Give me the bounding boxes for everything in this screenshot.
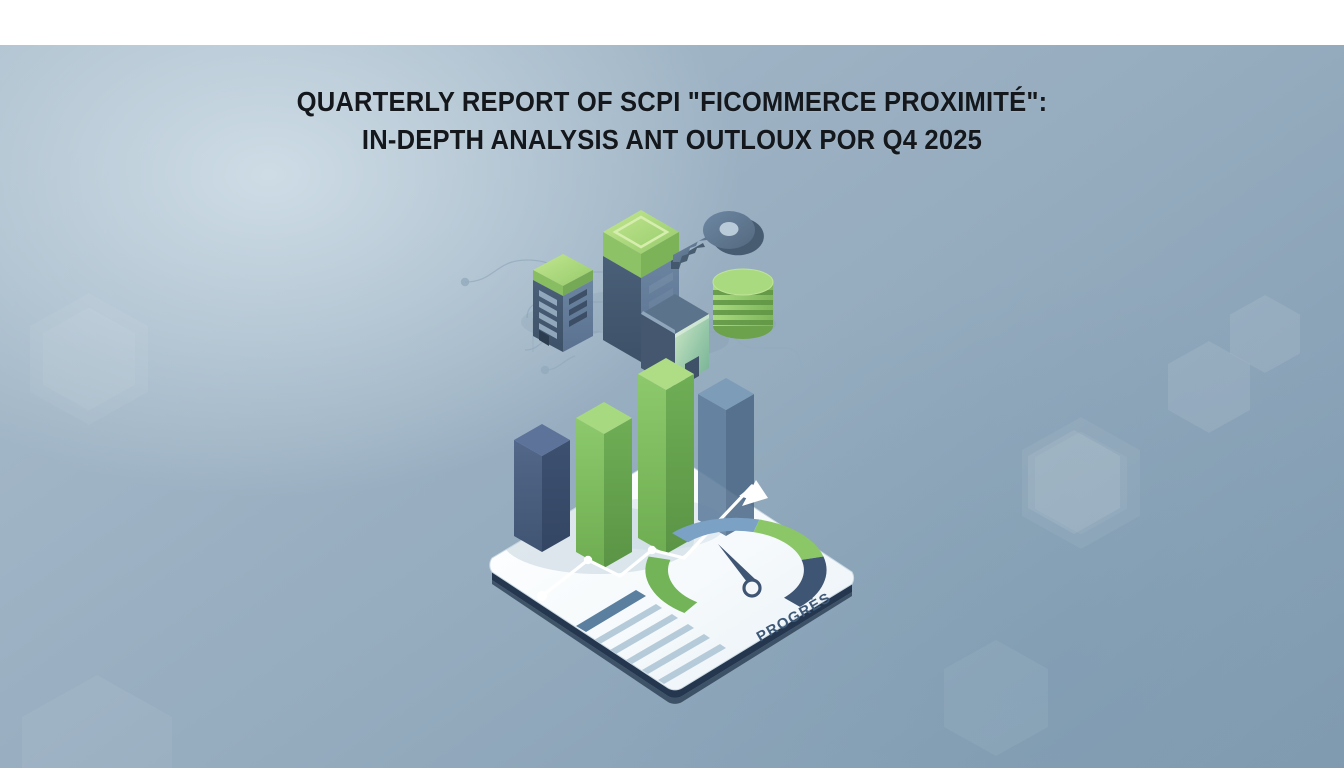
windows-left <box>539 290 557 339</box>
windows-right <box>569 289 587 327</box>
connector-nodes <box>461 278 549 374</box>
gauge-label: PROGRÈS <box>754 589 834 645</box>
key-icon <box>671 211 764 269</box>
building-office-small <box>533 254 593 352</box>
hexagon-decoration-center-right <box>1022 417 1140 549</box>
bars-shadow <box>502 506 694 574</box>
bar-1 <box>514 424 570 552</box>
bar-4 <box>698 378 754 536</box>
connector-lines <box>465 260 801 378</box>
ground-shadows <box>521 290 776 356</box>
gauge-segment-left <box>680 510 757 554</box>
gauge-needle <box>718 544 760 596</box>
page-title-line-2: IN-DEPTH ANALYSIS ANT OUTLOUX POR Q4 202… <box>47 121 1297 159</box>
slide-title-block: QUARTERLY REPORT OF SCPI "FICOMMERCE PRO… <box>0 83 1344 159</box>
trend-arrow-head <box>738 480 768 506</box>
text-line-5 <box>658 644 726 684</box>
db-stripes <box>713 290 773 325</box>
slide-root: PROGRÈS QUARTERLY REPORT OF SCPI "FICOMM… <box>0 0 1344 768</box>
hexagon-decoration-right-mid <box>1028 430 1120 534</box>
gauge-label-group: PROGRÈS <box>754 589 834 645</box>
gauge-segment-bottom <box>631 558 718 608</box>
text-line-1 <box>594 604 662 644</box>
gauge-segment-top <box>757 522 821 559</box>
hexagon-decoration-far-right <box>1230 295 1300 373</box>
text-line-2 <box>610 614 678 654</box>
card-face <box>490 454 854 690</box>
text-line-4 <box>642 634 710 674</box>
trend-points <box>537 520 720 601</box>
hexagon-decoration-bottom-left <box>944 640 1048 756</box>
building-house <box>641 294 709 388</box>
bar-2 <box>576 402 632 568</box>
bar-3 <box>638 358 694 554</box>
progress-gauge <box>624 505 848 634</box>
building-office-large <box>603 210 679 362</box>
card-text-lines <box>576 590 726 684</box>
text-line-3 <box>626 624 694 664</box>
card-edge-shadow <box>492 580 852 704</box>
gauge-segment-right <box>764 558 841 602</box>
illustration-report-scene: PROGRÈS <box>480 420 870 750</box>
page-title-line-1: QUARTERLY REPORT OF SCPI "FICOMMERCE PRO… <box>47 83 1297 121</box>
database-stack <box>713 269 773 339</box>
growth-trend-line <box>542 486 752 596</box>
text-line-heading <box>576 590 646 632</box>
card-edge <box>492 566 852 698</box>
illustration-buildings-scene <box>455 200 825 400</box>
top-white-band <box>0 0 1344 45</box>
hexagon-decoration-left-upper <box>30 293 148 425</box>
slide-background: PROGRÈS QUARTERLY REPORT OF SCPI "FICOMM… <box>0 45 1344 768</box>
hexagon-decoration-right-upper <box>1168 341 1250 433</box>
hexagon-decoration-left-lower <box>22 675 172 768</box>
